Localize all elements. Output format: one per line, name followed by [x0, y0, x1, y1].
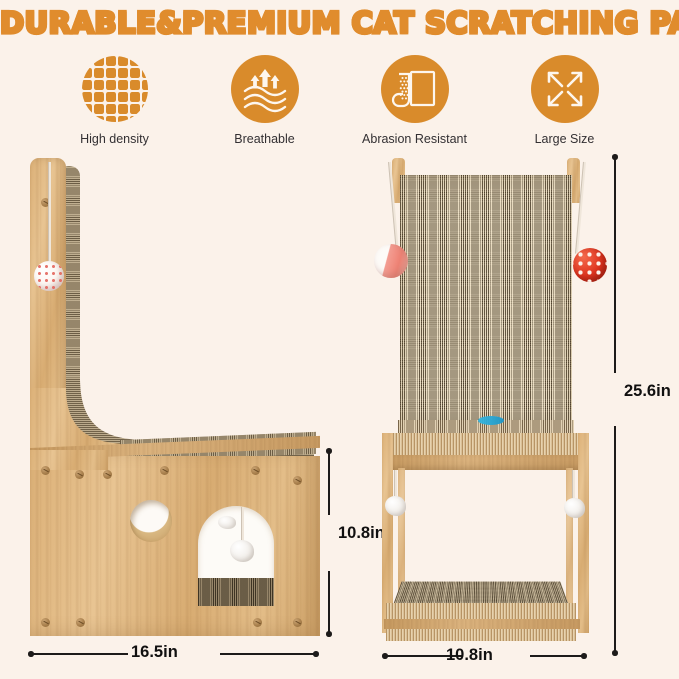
screw	[76, 618, 85, 627]
screw	[103, 470, 112, 479]
rolled-mat-icon	[381, 55, 449, 123]
dimension-width-left-label-main: 16.5in	[131, 643, 178, 662]
dimension-height-right: 25.6in	[612, 154, 679, 654]
screw	[293, 618, 302, 627]
screw	[75, 470, 84, 479]
toy-pompom-left	[385, 496, 406, 516]
page-title: DURABLE&PREMIUM CAT SCRATCHING PAD	[0, 6, 679, 40]
product-wooden-lounger-scratcher: 16.5in 10.8in	[8, 148, 328, 648]
dimension-width-right-label: 10.8in	[446, 646, 493, 665]
toy-pompom-small	[218, 516, 236, 529]
scratching-panel	[400, 175, 572, 428]
dimension-height-right-label: 25.6in	[624, 382, 671, 401]
feature-label: Large Size	[535, 132, 595, 146]
toy-ball-white-dots	[34, 261, 64, 291]
base-flute-band	[386, 603, 576, 619]
screw	[251, 466, 260, 475]
screw	[41, 618, 50, 627]
screw	[293, 476, 302, 485]
screw	[160, 466, 169, 475]
screw	[41, 466, 50, 475]
mesh-grid-icon	[81, 55, 149, 123]
feature-abrasion-resistant: Abrasion Resistant	[340, 55, 490, 146]
scratcher-cave-floor	[198, 578, 274, 606]
page-title-text: DURABLE&PREMIUM CAT SCRATCHING PAD	[0, 6, 679, 40]
product-infographic: DURABLE&PREMIUM CAT SCRATCHING PAD	[0, 0, 679, 679]
feature-label: Breathable	[234, 132, 294, 146]
shelf-board	[384, 455, 586, 470]
scratcher-porthole	[130, 500, 172, 542]
feature-label: High density	[80, 132, 149, 146]
toy-blue-accent	[478, 416, 504, 425]
feature-breathable: Breathable	[190, 55, 340, 146]
product-images: 16.5in 10.8in	[0, 148, 679, 679]
feature-high-density: High density	[40, 55, 190, 146]
base-flute-band-bottom	[386, 629, 576, 641]
airflow-waves-icon	[231, 55, 299, 123]
toy-ball-pink-white	[374, 244, 408, 278]
toy-ball-red-dots	[573, 248, 607, 282]
toy-pompom-right	[564, 498, 585, 518]
dimension-width-right: 10.8in	[382, 648, 592, 674]
feature-list: High density Breathable	[0, 55, 679, 146]
toy-pompom	[230, 540, 254, 562]
shelf-flute-band	[384, 433, 586, 455]
product-tall-cardboard-scratcher: 10.8in 25.6in	[370, 148, 620, 648]
scratcher-body	[30, 456, 320, 636]
dimension-width-left-group: 16.5in	[28, 646, 338, 672]
leg-right	[578, 433, 589, 633]
resize-arrows-icon	[531, 55, 599, 123]
feature-large-size: Large Size	[490, 55, 640, 146]
toy-string	[48, 162, 51, 270]
screw	[253, 618, 262, 627]
feature-label: Abrasion Resistant	[362, 132, 467, 146]
base-board	[384, 619, 580, 629]
